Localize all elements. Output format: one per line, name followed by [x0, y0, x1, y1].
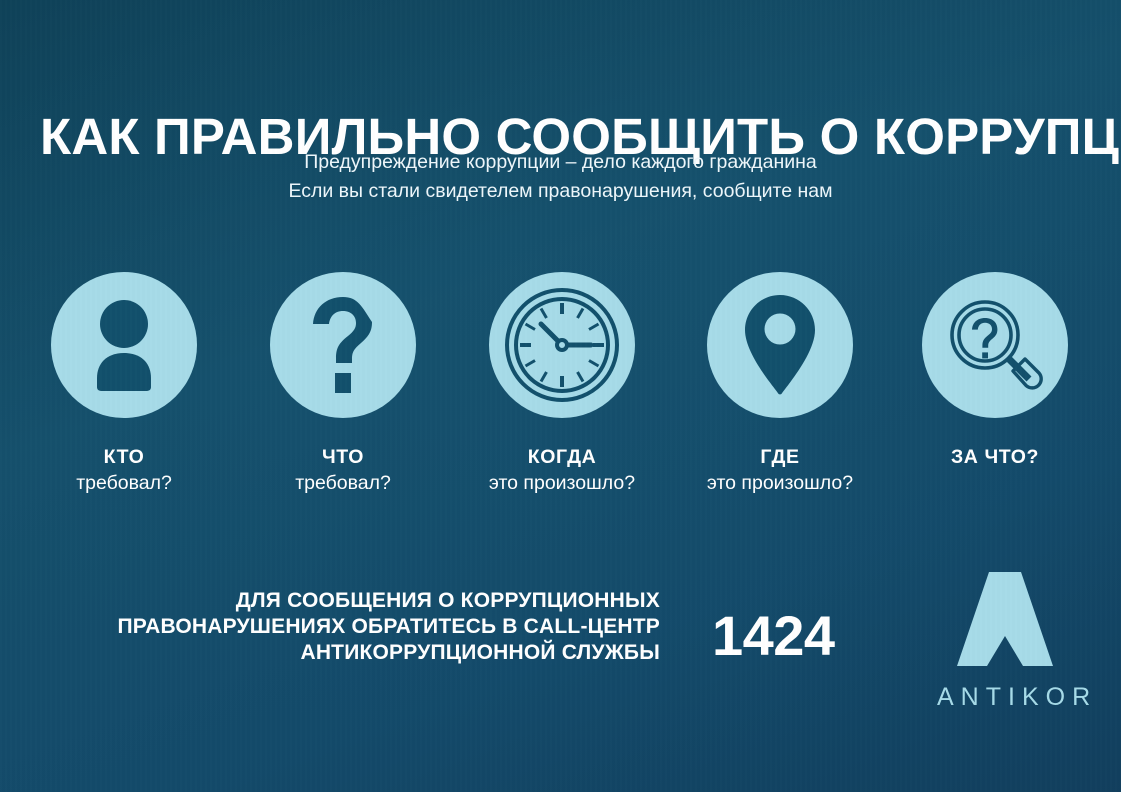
step-what: ЧТО требовал?	[245, 272, 441, 496]
step-what-label: ЧТО требовал?	[245, 444, 441, 496]
step-where-label: ГДЕ это произошло?	[682, 444, 878, 496]
step-who: КТО требовал?	[26, 272, 222, 496]
step-what-label-sub: требовал?	[245, 470, 441, 496]
footer: ДЛЯ СООБЩЕНИЯ О КОРРУПЦИОННЫХ ПРАВОНАРУШ…	[0, 588, 1121, 698]
step-who-label-main: КТО	[26, 444, 222, 470]
step-why-label: ЗА ЧТО?	[897, 444, 1093, 470]
antikor-a-logo-icon	[930, 566, 1080, 677]
subtitle-line-1: Предупреждение коррупции – дело каждого …	[0, 148, 1121, 177]
step-who-circle	[51, 272, 197, 418]
magnifier-question-icon	[943, 293, 1047, 397]
step-who-label-sub: требовал?	[26, 470, 222, 496]
footer-message: ДЛЯ СООБЩЕНИЯ О КОРРУПЦИОННЫХ ПРАВОНАРУШ…	[60, 588, 660, 666]
subtitle-line-2: Если вы стали свидетелем правонарушения,…	[0, 177, 1121, 206]
step-when-label-main: КОГДА	[464, 444, 660, 470]
step-why-label-main: ЗА ЧТО?	[897, 444, 1093, 470]
person-icon	[81, 299, 167, 391]
antikor-wordmark: ANTIKOR	[930, 683, 1080, 712]
step-when-label: КОГДА это произошло?	[464, 444, 660, 496]
step-what-label-main: ЧТО	[245, 444, 441, 470]
step-where-label-sub: это произошло?	[682, 470, 878, 496]
step-when: КОГДА это произошло?	[464, 272, 660, 496]
subtitle: Предупреждение коррупции – дело каждого …	[0, 148, 1121, 206]
step-where: ГДЕ это произошло?	[682, 272, 878, 496]
step-where-label-main: ГДЕ	[682, 444, 878, 470]
step-who-label: КТО требовал?	[26, 444, 222, 496]
question-mark-icon	[308, 295, 378, 395]
step-what-circle	[270, 272, 416, 418]
step-when-circle	[489, 272, 635, 418]
clock-icon	[503, 286, 621, 404]
antikor-logo: ANTIKOR	[930, 566, 1080, 712]
footer-line-2: ПРАВОНАРУШЕНИЯХ ОБРАТИТЕСЬ В CALL-ЦЕНТР	[60, 614, 660, 640]
location-pin-icon	[741, 293, 819, 397]
step-when-label-sub: это произошло?	[464, 470, 660, 496]
step-why: ЗА ЧТО?	[897, 272, 1093, 470]
footer-line-3: АНТИКОРРУПЦИОННОЙ СЛУЖБЫ	[60, 640, 660, 666]
step-where-circle	[707, 272, 853, 418]
corruption-report-infographic: КАК ПРАВИЛЬНО СООБЩИТЬ О КОРРУПЦИИ? Пред…	[0, 0, 1121, 792]
footer-line-1: ДЛЯ СООБЩЕНИЯ О КОРРУПЦИОННЫХ	[60, 588, 660, 614]
hotline-number: 1424	[712, 603, 835, 668]
step-why-circle	[922, 272, 1068, 418]
